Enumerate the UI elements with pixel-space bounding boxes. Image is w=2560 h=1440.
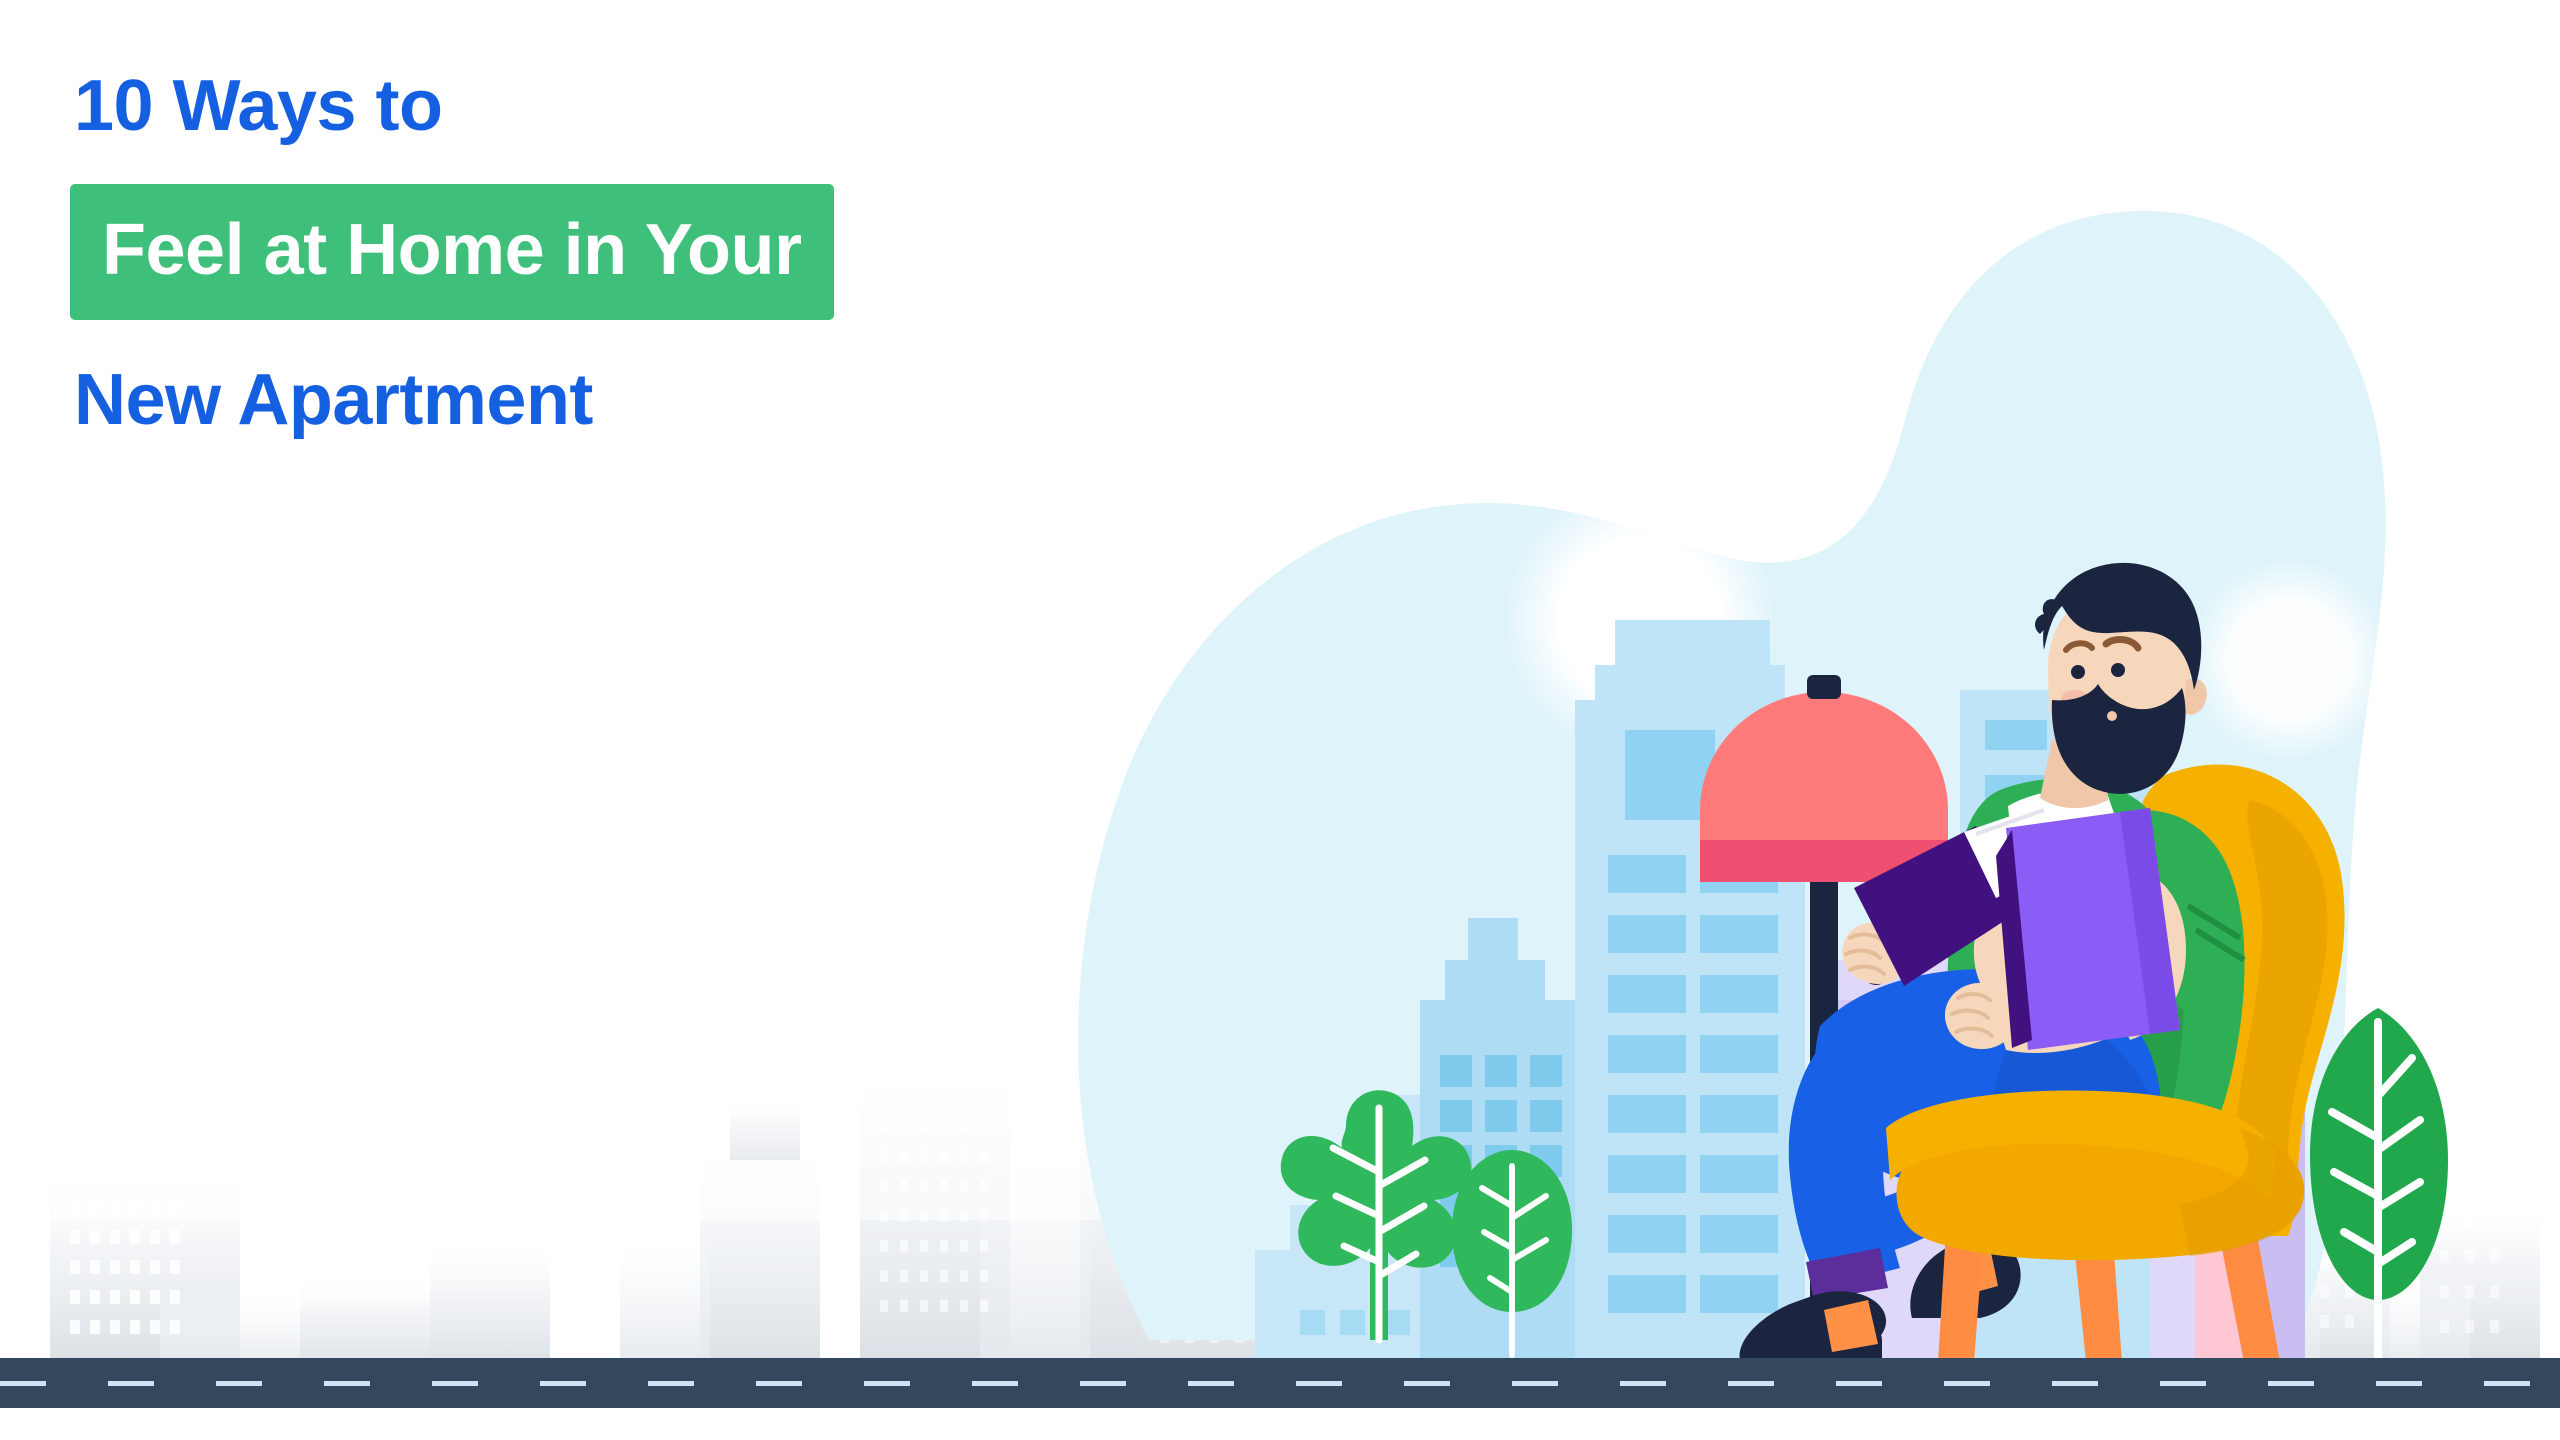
headline-line-1: 10 Ways to <box>74 70 1270 142</box>
poster-canvas: 10 Ways to Feel at Home in Your New Apar… <box>0 0 2560 1440</box>
street-road <box>0 1358 2560 1408</box>
headline-line-2: Feel at Home in Your <box>70 184 834 320</box>
headline-banner-row: Feel at Home in Your <box>70 184 1270 320</box>
headline-line-3: New Apartment <box>74 364 1270 436</box>
page-title: 10 Ways to Feel at Home in Your New Apar… <box>70 70 1270 436</box>
road-dash-line <box>0 1381 2560 1386</box>
